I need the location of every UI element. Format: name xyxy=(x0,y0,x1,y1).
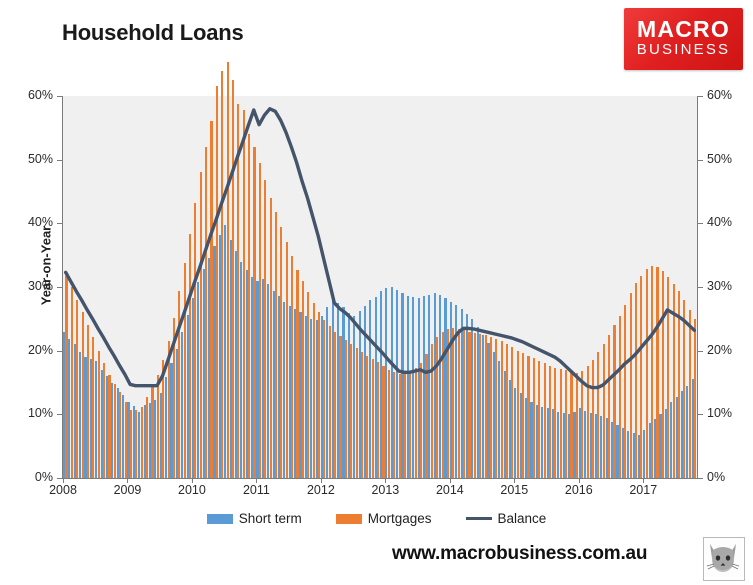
bar-mortgages xyxy=(237,104,239,478)
bar-mortgages xyxy=(178,291,180,478)
bar-mortgages xyxy=(667,277,669,478)
bar-mortgages xyxy=(184,263,186,478)
bar-mortgages xyxy=(522,353,524,478)
x-tick-label: 2017 xyxy=(613,483,673,497)
bar-mortgages xyxy=(253,147,255,478)
bar-mortgages xyxy=(474,333,476,478)
x-tick-label: 2013 xyxy=(355,483,415,497)
bar-mortgages xyxy=(345,340,347,478)
y-tick-label-right: 30% xyxy=(707,279,732,293)
y-tick-mark xyxy=(57,414,62,415)
bar-mortgages xyxy=(377,362,379,478)
legend-label: Balance xyxy=(498,511,547,526)
bar-mortgages xyxy=(597,352,599,478)
bar-mortgages xyxy=(635,283,637,478)
site-url: www.macrobusiness.com.au xyxy=(392,543,647,565)
y-tick-mark xyxy=(57,160,62,161)
y-tick-label-right: 20% xyxy=(707,343,732,357)
y-tick-label-left: 50% xyxy=(28,152,53,166)
bar-mortgages xyxy=(458,329,460,478)
bar-mortgages xyxy=(119,392,121,478)
bar-mortgages xyxy=(565,370,567,478)
bar-mortgages xyxy=(318,312,320,478)
bar-mortgages xyxy=(248,134,250,478)
y-tick-label-right: 50% xyxy=(707,152,732,166)
bar-mortgages xyxy=(646,269,648,478)
bar-mortgages xyxy=(157,375,159,478)
x-tick-label: 2012 xyxy=(291,483,351,497)
bar-mortgages xyxy=(603,344,605,478)
legend-item[interactable]: Balance xyxy=(466,511,547,526)
bar-mortgages xyxy=(399,374,401,478)
bar-mortgages xyxy=(409,371,411,478)
legend-swatch-icon xyxy=(336,514,362,524)
y-tick-label-right: 60% xyxy=(707,88,732,102)
bar-mortgages xyxy=(205,147,207,478)
y-tick-mark xyxy=(57,96,62,97)
y-tick-mark xyxy=(698,351,703,352)
bar-mortgages xyxy=(436,337,438,478)
bar-mortgages xyxy=(420,363,422,478)
bar-mortgages xyxy=(350,344,352,478)
bar-mortgages xyxy=(485,335,487,478)
y-tick-label-left: 0% xyxy=(35,470,53,484)
bar-mortgages xyxy=(173,318,175,478)
bar-mortgages xyxy=(662,271,664,478)
bar-mortgages xyxy=(194,203,196,478)
bar-mortgages xyxy=(640,276,642,478)
chart-container: Year-on-Year 0%0%10%10%20%20%30%30%40%40… xyxy=(0,0,753,585)
x-tick-label: 2011 xyxy=(226,483,286,497)
y-tick-mark xyxy=(698,223,703,224)
y-tick-mark xyxy=(698,96,703,97)
bar-mortgages xyxy=(511,347,513,478)
bar-mortgages xyxy=(501,341,503,478)
bar-mortgages xyxy=(114,384,116,478)
y-tick-label-left: 40% xyxy=(28,215,53,229)
bar-mortgages xyxy=(533,358,535,478)
bar-mortgages xyxy=(576,373,578,478)
bar-mortgages xyxy=(689,310,691,478)
y-tick-label-right: 10% xyxy=(707,406,732,420)
bar-mortgages xyxy=(630,293,632,478)
bar-mortgages xyxy=(393,372,395,478)
bar-mortgages xyxy=(608,335,610,478)
legend-item[interactable]: Mortgages xyxy=(336,511,432,526)
bar-mortgages xyxy=(694,319,696,478)
bar-mortgages xyxy=(76,300,78,478)
y-tick-mark xyxy=(698,287,703,288)
bar-mortgages xyxy=(216,86,218,478)
bar-mortgages xyxy=(506,344,508,478)
bar-mortgages xyxy=(210,121,212,478)
bar-mortgages xyxy=(313,303,315,478)
bar-mortgages xyxy=(678,291,680,478)
x-tick-label: 2008 xyxy=(33,483,93,497)
y-tick-mark xyxy=(57,478,62,479)
bar-mortgages xyxy=(479,334,481,478)
bar-mortgages xyxy=(323,320,325,478)
bar-mortgages xyxy=(490,337,492,478)
legend-swatch-icon xyxy=(207,514,233,524)
bar-mortgages xyxy=(570,372,572,478)
x-tick-label: 2010 xyxy=(162,483,222,497)
bar-mortgages xyxy=(560,369,562,478)
y-tick-mark xyxy=(698,414,703,415)
y-tick-label-right: 0% xyxy=(707,470,725,484)
bar-mortgages xyxy=(125,402,127,478)
legend-swatch-icon xyxy=(466,517,492,520)
bar-mortgages xyxy=(329,326,331,478)
bar-mortgages xyxy=(264,180,266,478)
bar-mortgages xyxy=(200,172,202,478)
bar-mortgages xyxy=(544,363,546,478)
bar-mortgages xyxy=(307,292,309,478)
lynx-face-svg xyxy=(704,538,742,578)
bar-mortgages xyxy=(361,352,363,478)
bar-mortgages xyxy=(619,316,621,478)
legend-label: Mortgages xyxy=(368,511,432,526)
bar-mortgages xyxy=(291,256,293,478)
y-tick-label-right: 40% xyxy=(707,215,732,229)
y-tick-mark xyxy=(57,287,62,288)
y-tick-label-left: 60% xyxy=(28,88,53,102)
bar-mortgages xyxy=(538,361,540,478)
bar-mortgages xyxy=(587,366,589,478)
bar-mortgages xyxy=(447,329,449,478)
bar-mortgages xyxy=(388,370,390,478)
bar-mortgages xyxy=(168,341,170,478)
bar-mortgages xyxy=(651,266,653,478)
bar-mortgages xyxy=(581,371,583,478)
bar-mortgages xyxy=(356,348,358,478)
y-tick-mark xyxy=(698,478,703,479)
bar-mortgages xyxy=(135,410,137,478)
bar-mortgages xyxy=(151,386,153,478)
y-tick-mark xyxy=(698,160,703,161)
bar-mortgages xyxy=(495,339,497,478)
bar-mortgages xyxy=(232,80,234,478)
bar-mortgages xyxy=(613,325,615,478)
bar-mortgages xyxy=(656,267,658,478)
y-tick-label-left: 30% xyxy=(28,279,53,293)
bar-mortgages xyxy=(82,312,84,478)
bar-mortgages xyxy=(415,368,417,478)
x-tick-label: 2016 xyxy=(549,483,609,497)
y-tick-mark xyxy=(57,351,62,352)
x-axis-line xyxy=(62,478,698,479)
bar-mortgages xyxy=(275,212,277,478)
bar-mortgages xyxy=(130,410,132,478)
bar-mortgages xyxy=(65,276,67,478)
bar-mortgages xyxy=(425,354,427,478)
bar-mortgages xyxy=(334,332,336,478)
bar-mortgages xyxy=(87,325,89,478)
bar-mortgages xyxy=(162,360,164,478)
bar-mortgages xyxy=(468,332,470,478)
bar-mortgages xyxy=(372,359,374,478)
bar-mortgages xyxy=(98,351,100,478)
chart-legend: Short termMortgagesBalance xyxy=(0,511,753,526)
bar-mortgages xyxy=(243,110,245,478)
bar-mortgages xyxy=(527,356,529,478)
bar-mortgages xyxy=(431,344,433,478)
bar-mortgages xyxy=(517,351,519,478)
y-tick-label-left: 20% xyxy=(28,343,53,357)
x-tick-label: 2015 xyxy=(484,483,544,497)
legend-label: Short term xyxy=(239,511,302,526)
bar-mortgages xyxy=(280,227,282,478)
bar-mortgages xyxy=(227,62,229,478)
bar-mortgages xyxy=(624,305,626,478)
bar-mortgages xyxy=(302,281,304,478)
bar-mortgages xyxy=(592,360,594,478)
bar-mortgages xyxy=(259,163,261,478)
bar-mortgages xyxy=(71,287,73,478)
bar-mortgages xyxy=(146,397,148,478)
x-tick-label: 2009 xyxy=(97,483,157,497)
bar-mortgages xyxy=(404,373,406,478)
y-tick-label-left: 10% xyxy=(28,406,53,420)
y-tick-mark xyxy=(57,223,62,224)
bar-mortgages xyxy=(683,300,685,478)
bar-mortgages xyxy=(452,328,454,478)
bar-mortgages xyxy=(296,270,298,478)
bar-mortgages xyxy=(366,356,368,478)
bar-mortgages xyxy=(92,337,94,478)
bar-mortgages xyxy=(221,71,223,478)
bar-mortgages xyxy=(108,375,110,478)
x-tick-label: 2014 xyxy=(420,483,480,497)
bar-mortgages xyxy=(103,363,105,478)
bar-mortgages xyxy=(442,332,444,478)
bar-mortgages xyxy=(549,366,551,478)
bar-mortgages xyxy=(339,336,341,478)
bar-mortgages xyxy=(189,234,191,478)
bar-mortgages xyxy=(382,366,384,478)
bar-mortgages xyxy=(554,368,556,478)
bar-mortgages xyxy=(463,330,465,478)
lynx-face-icon xyxy=(703,537,745,581)
bar-mortgages xyxy=(673,284,675,478)
bar-mortgages xyxy=(141,407,143,478)
bar-mortgages xyxy=(270,198,272,478)
legend-item[interactable]: Short term xyxy=(207,511,302,526)
bar-mortgages xyxy=(286,242,288,478)
